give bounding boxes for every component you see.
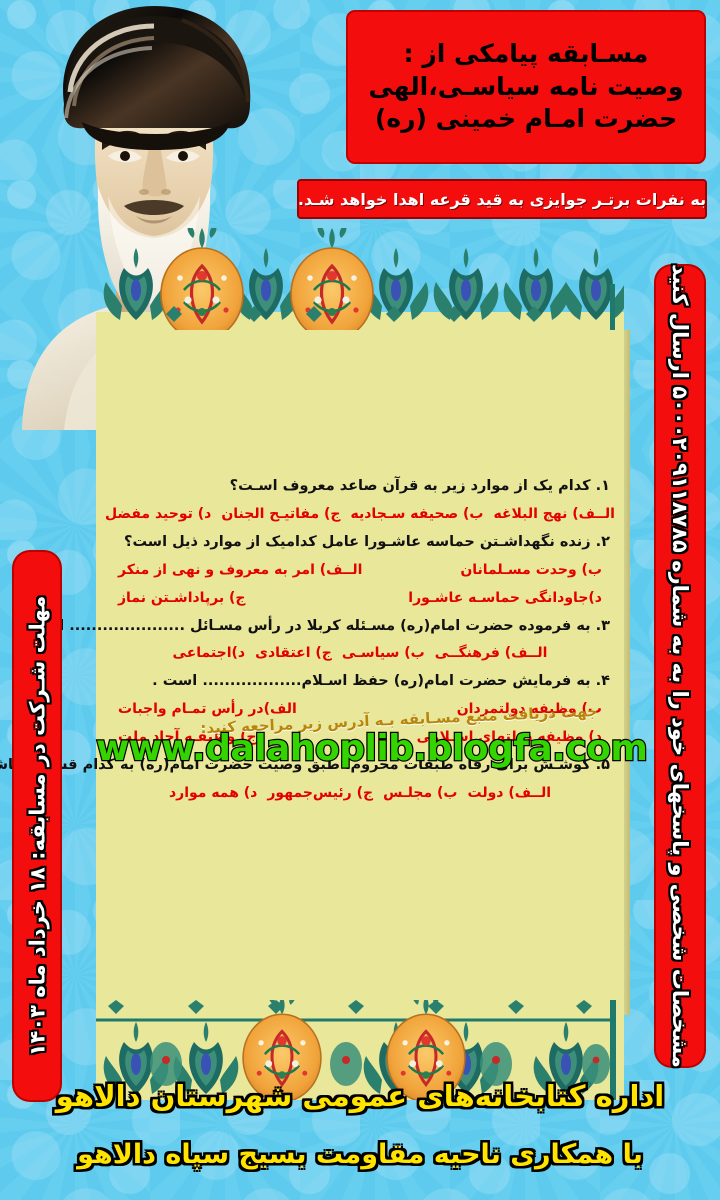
option-alef[interactable]: الــف) نهج البلاغه: [493, 504, 615, 525]
quiz-panel: جهت دریافت منبع مسـابقه بـه آدرس زیر مرا…: [96, 330, 624, 1015]
headline-banner: مسـابقه پیامکی از : وصیت نامه سیاسـی،اله…: [348, 12, 704, 162]
headline-line-1: مسـابقه پیامکی از :: [404, 39, 649, 70]
option-dal[interactable]: د) توحید مفضل: [105, 504, 211, 525]
option-row: الــف) نهج البلاغه ب) صحیفه سـجادیه ج) م…: [110, 504, 610, 525]
option-row: الــف) دولت ب) مجلـس ج) رئیس‌جمهور د) هم…: [110, 783, 610, 804]
sms-number-sidebar: مشخصات شخصی و پاسخهای خود را به به شماره…: [656, 266, 704, 1066]
option-row: ب) وحدت مسـلمانان الــف) امر به معروف و …: [110, 560, 610, 581]
panel-edge-shadow: [624, 330, 630, 1015]
option-jim[interactable]: ج) رئیس‌جمهور: [267, 783, 373, 804]
option-row: د)جاودانگی حماسـه عاشـورا ج) برپاداشـتن …: [110, 588, 610, 609]
option-jim[interactable]: ج) مفاتیـح الجنان: [221, 504, 340, 525]
sms-number-text: مشخصات شخصی و پاسخهای خود را به به شماره…: [668, 264, 692, 1068]
option-row: الــف) فرهنگــی ب) سیاسـی ج) اعتقادی د)ا…: [110, 643, 610, 664]
tazhib-ornament-top: [96, 228, 624, 338]
option-dal[interactable]: د)جاودانگی حماسـه عاشـورا: [408, 588, 602, 609]
question-text: ۴. به فرمایش حضرت امام(ره) حفظ اسـلام...…: [110, 671, 610, 693]
question-block: ۲. زنده نگهداشـتن حماسه عاشـورا عامل کدا…: [110, 532, 610, 609]
questions-list: ۱. کدام یک از موارد زیر به قرآن صاعد معر…: [96, 330, 624, 1015]
organizer-line: اداره کتابخانه‌های عمومی شهرستان دالاهو: [0, 1079, 720, 1113]
option-alef[interactable]: الــف) فرهنگــی: [435, 643, 548, 664]
question-block: ۳. به فرموده حضرت امام(ره) مسـئله کربلا …: [110, 616, 610, 665]
option-be[interactable]: ب) مجلـس: [383, 783, 457, 804]
option-dal[interactable]: د)اجتماعی: [173, 643, 246, 664]
question-text: ۲. زنده نگهداشـتن حماسه عاشـورا عامل کدا…: [110, 532, 610, 554]
question-text: ۳. به فرموده حضرت امام(ره) مسـئله کربلا …: [110, 616, 610, 638]
option-dal[interactable]: د) همه موارد: [169, 783, 257, 804]
question-text: ۱. کدام یک از موارد زیر به قرآن صاعد معر…: [110, 476, 610, 498]
option-be[interactable]: ب) وحدت مسـلمانان: [460, 560, 602, 581]
deadline-text: مهلت شـرکت در مسابقه: ۱۸ خرداد ماه ۱۴۰۳: [25, 596, 49, 1057]
question-block: ۱. کدام یک از موارد زیر به قرآن صاعد معر…: [110, 476, 610, 525]
prize-note-banner: به نفرات برتـر جوایزی به قید قرعه اهدا خ…: [297, 179, 707, 219]
prize-note-text: به نفرات برتـر جوایزی به قید قرعه اهدا خ…: [298, 190, 706, 209]
option-be[interactable]: ب) سیاسـی: [342, 643, 425, 664]
option-alef[interactable]: الــف) امر به معروف و نهی از منکر: [118, 560, 362, 581]
option-be[interactable]: ب) صحیفه سـجادیه: [351, 504, 484, 525]
deadline-sidebar: مهلت شـرکت در مسابقه: ۱۸ خرداد ماه ۱۴۰۳: [14, 552, 60, 1100]
website-url-link[interactable]: www.dalahoplib.blogfa.com: [96, 728, 624, 769]
headline-line-2: وصیت نامه سیاسـی،الهی: [368, 72, 683, 103]
poster-root: مسـابقه پیامکی از : وصیت نامه سیاسـی،اله…: [0, 0, 720, 1200]
option-jim[interactable]: ج) اعتقادی: [255, 643, 332, 664]
option-alef[interactable]: الــف) دولت: [468, 783, 552, 804]
headline-line-3: حضرت امـام خمینی (ره): [375, 104, 677, 135]
option-jim[interactable]: ج) برپاداشـتن نماز: [118, 588, 246, 609]
cooperation-line: با همکاری ناحیه مقاومت بسیج سپاه دالاهو: [0, 1139, 720, 1170]
